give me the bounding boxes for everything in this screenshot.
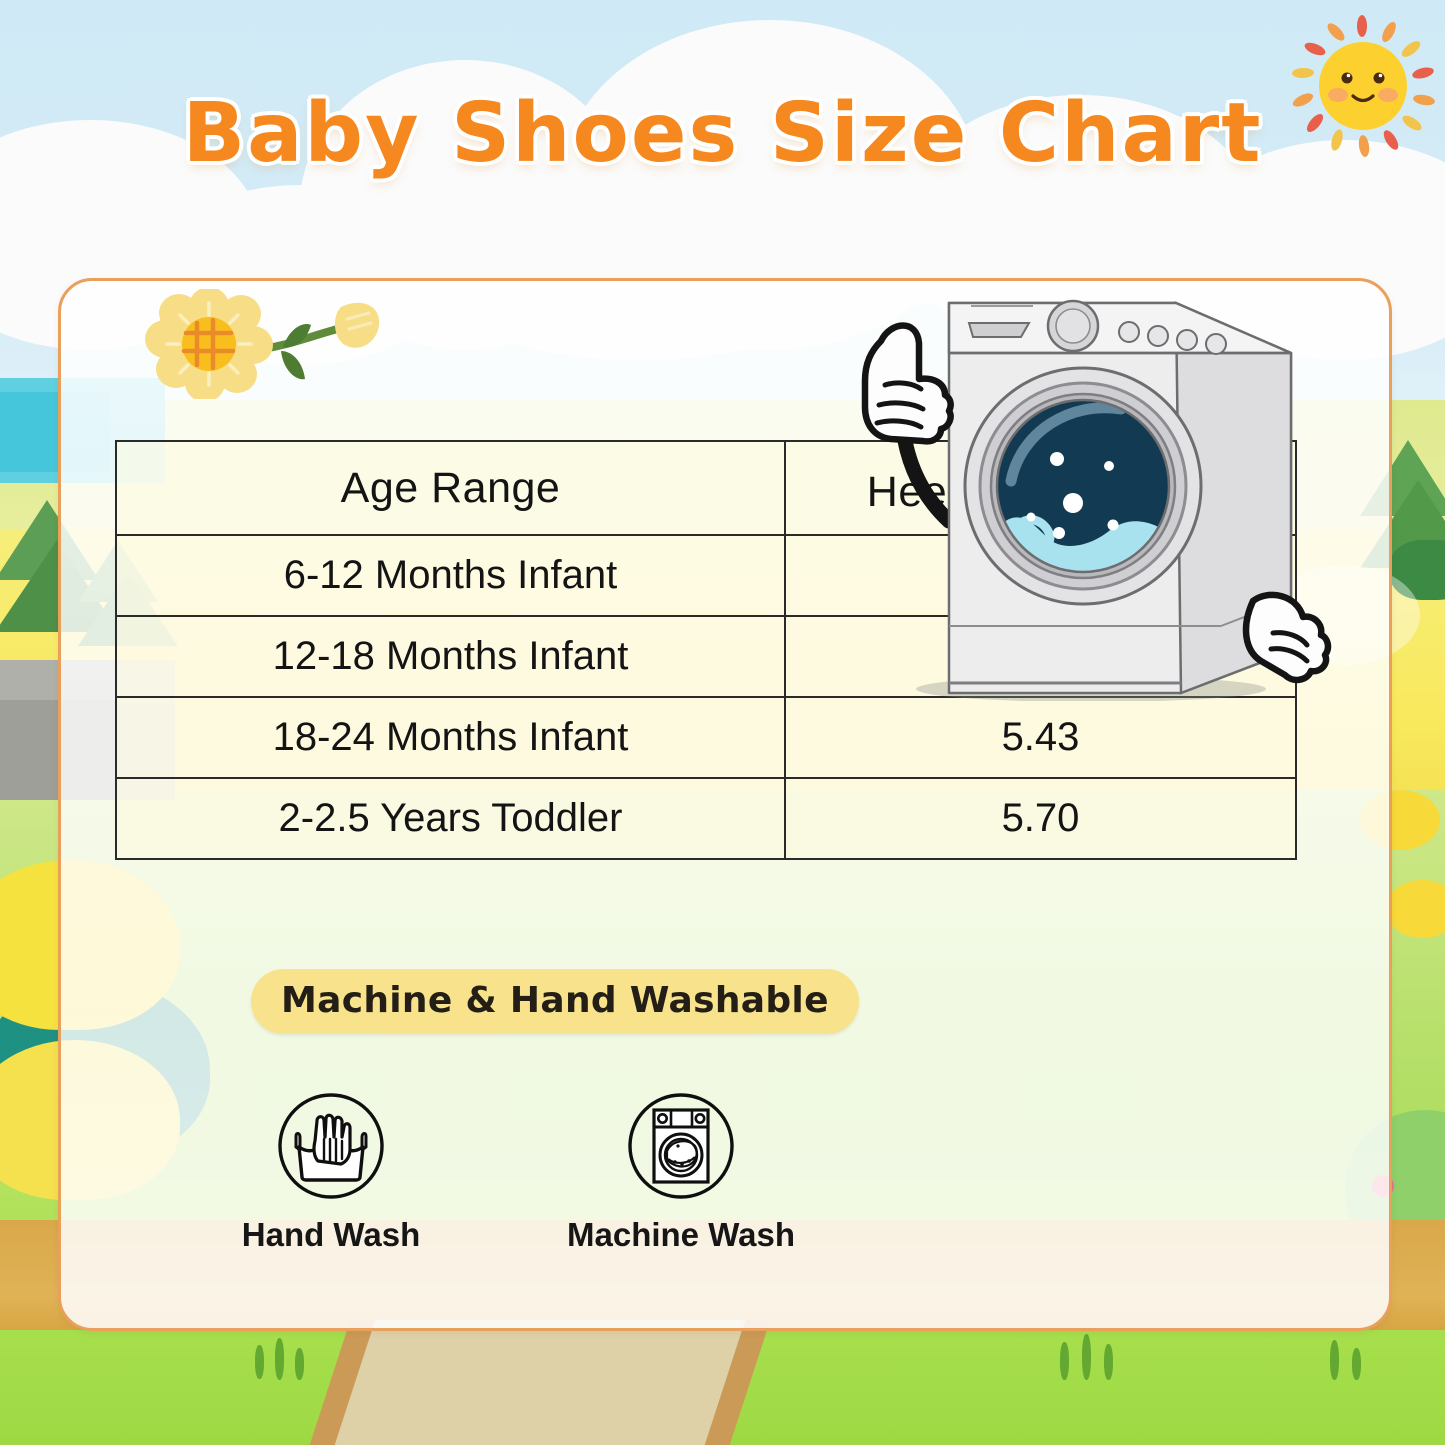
content-card: Age Range Heel to toe （in） 6-12 Months I… [58, 278, 1392, 1331]
washing-machine-mascot-icon [821, 281, 1341, 701]
sunflower-and-tulip-icon [131, 289, 391, 399]
hand-wash-item: Hand Wash [211, 1091, 451, 1254]
cell-age-range: 18-24 Months Infant [116, 697, 785, 778]
hand-wash-icon [211, 1091, 451, 1206]
cell-age-range: 2-2.5 Years Toddler [116, 778, 785, 859]
smiling-sun-icon [1285, 12, 1440, 162]
cell-heel-to-toe: 5.70 [785, 778, 1296, 859]
hand-wash-label: Hand Wash [211, 1216, 451, 1254]
cell-heel-to-toe: 5.43 [785, 697, 1296, 778]
cell-age-range: 12-18 Months Infant [116, 616, 785, 697]
page-title: Baby Shoes Size Chart [0, 86, 1445, 181]
machine-wash-label: Machine Wash [561, 1216, 801, 1254]
table-row: 18-24 Months Infant 5.43 [116, 697, 1296, 778]
cell-age-range: 6-12 Months Infant [116, 535, 785, 616]
machine-wash-item: Machine Wash [561, 1091, 801, 1254]
washable-badge: Machine & Hand Washable [251, 969, 859, 1034]
machine-wash-icon [561, 1091, 801, 1206]
size-chart-poster: Baby Shoes Size Chart [0, 0, 1445, 1445]
header-age-range: Age Range [116, 441, 785, 535]
table-row: 2-2.5 Years Toddler 5.70 [116, 778, 1296, 859]
dirt-path [335, 1320, 746, 1445]
